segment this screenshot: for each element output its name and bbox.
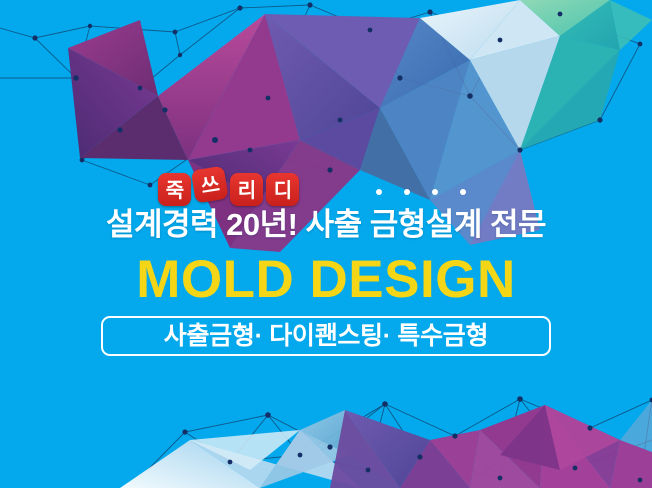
mold-design-banner: 죽 쓰 리 디 설계경력 20년! 사출 금형설계 전문 MOLD DESIGN… <box>0 0 652 488</box>
decor-dot-3 <box>432 189 438 195</box>
decorative-dots <box>376 189 466 195</box>
main-title: MOLD DESIGN <box>0 252 652 308</box>
banner-content: 죽 쓰 리 디 설계경력 20년! 사출 금형설계 전문 MOLD DESIGN… <box>0 0 652 488</box>
decor-dot-1 <box>376 189 382 195</box>
logo-tile-1: 죽 <box>158 173 191 206</box>
decor-dot-4 <box>460 189 466 195</box>
brand-logo: 죽 쓰 리 디 <box>158 166 299 206</box>
logo-tile-4: 디 <box>266 173 299 206</box>
subtitle-text: 사출금형· 다이쾐스팅· 특수금형 <box>164 324 488 349</box>
decor-dot-2 <box>404 189 410 195</box>
logo-tile-2: 쓰 <box>191 166 229 204</box>
headline-text: 설계경력 20년! 사출 금형설계 전문 <box>0 208 652 242</box>
logo-tile-3: 리 <box>230 173 263 206</box>
subtitle-box: 사출금형· 다이쾐스팅· 특수금형 <box>101 316 551 356</box>
